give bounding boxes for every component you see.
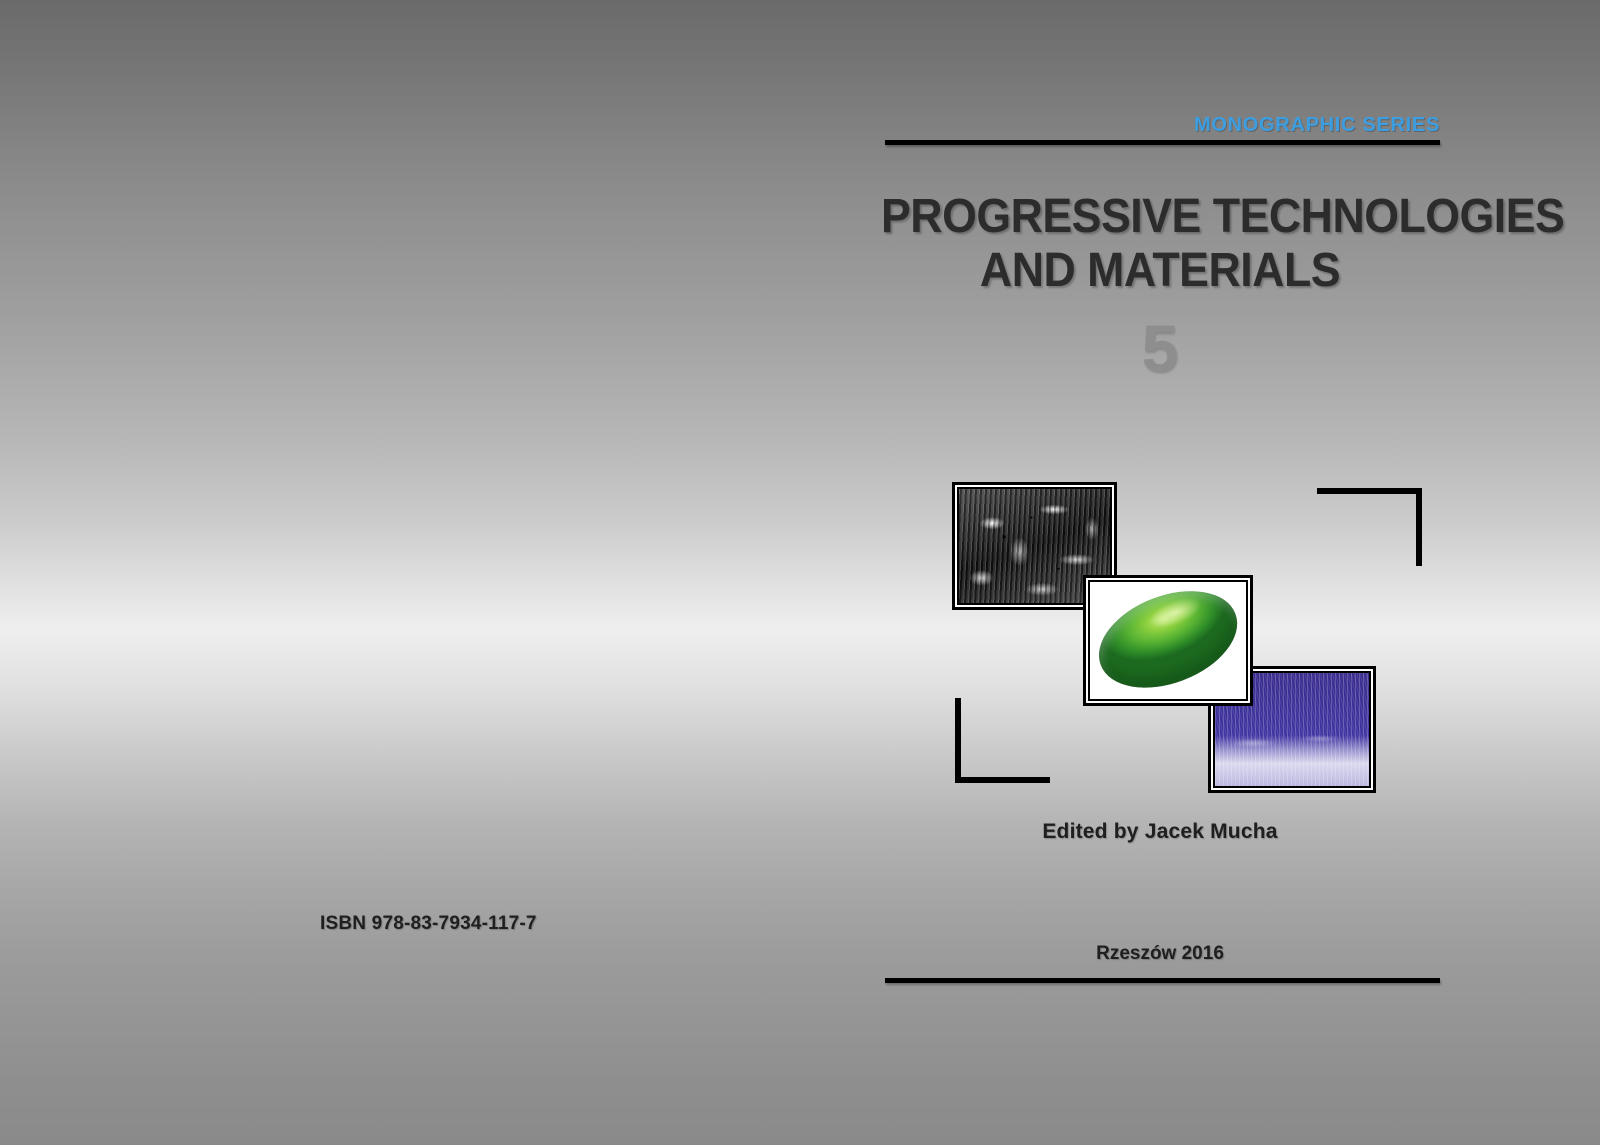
front-cover-panel: MONOGRAPHIC SERIES PROGRESSIVE TECHNOLOG… [860, 0, 1600, 1145]
series-label: MONOGRAPHIC SERIES [1194, 114, 1440, 137]
corner-bracket-bottom-left [955, 698, 1050, 783]
corner-bracket-top-right [1317, 488, 1422, 566]
ellipsoid-frame [1088, 580, 1248, 701]
editor-credit: Edited by Jacek Mucha [860, 820, 1460, 844]
bottom-divider-rule [885, 978, 1440, 983]
image-collage [940, 470, 1480, 810]
volume-number: 5 [860, 315, 1460, 381]
page-title: PROGRESSIVE TECHNOLOGIES AND MATERIALS [881, 190, 1439, 298]
top-divider-rule [885, 140, 1440, 145]
title-line-2: AND MATERIALS [881, 244, 1439, 298]
green-ellipsoid-shape [1088, 580, 1248, 701]
ellipsoid-image [1083, 575, 1253, 706]
title-line-1: PROGRESSIVE TECHNOLOGIES [881, 190, 1439, 244]
place-and-year: Rzeszów 2016 [860, 943, 1460, 965]
book-cover: ISBN 978-83-7934-117-7 MONOGRAPHIC SERIE… [0, 0, 1600, 1145]
isbn-text: ISBN 978-83-7934-117-7 [320, 913, 537, 935]
